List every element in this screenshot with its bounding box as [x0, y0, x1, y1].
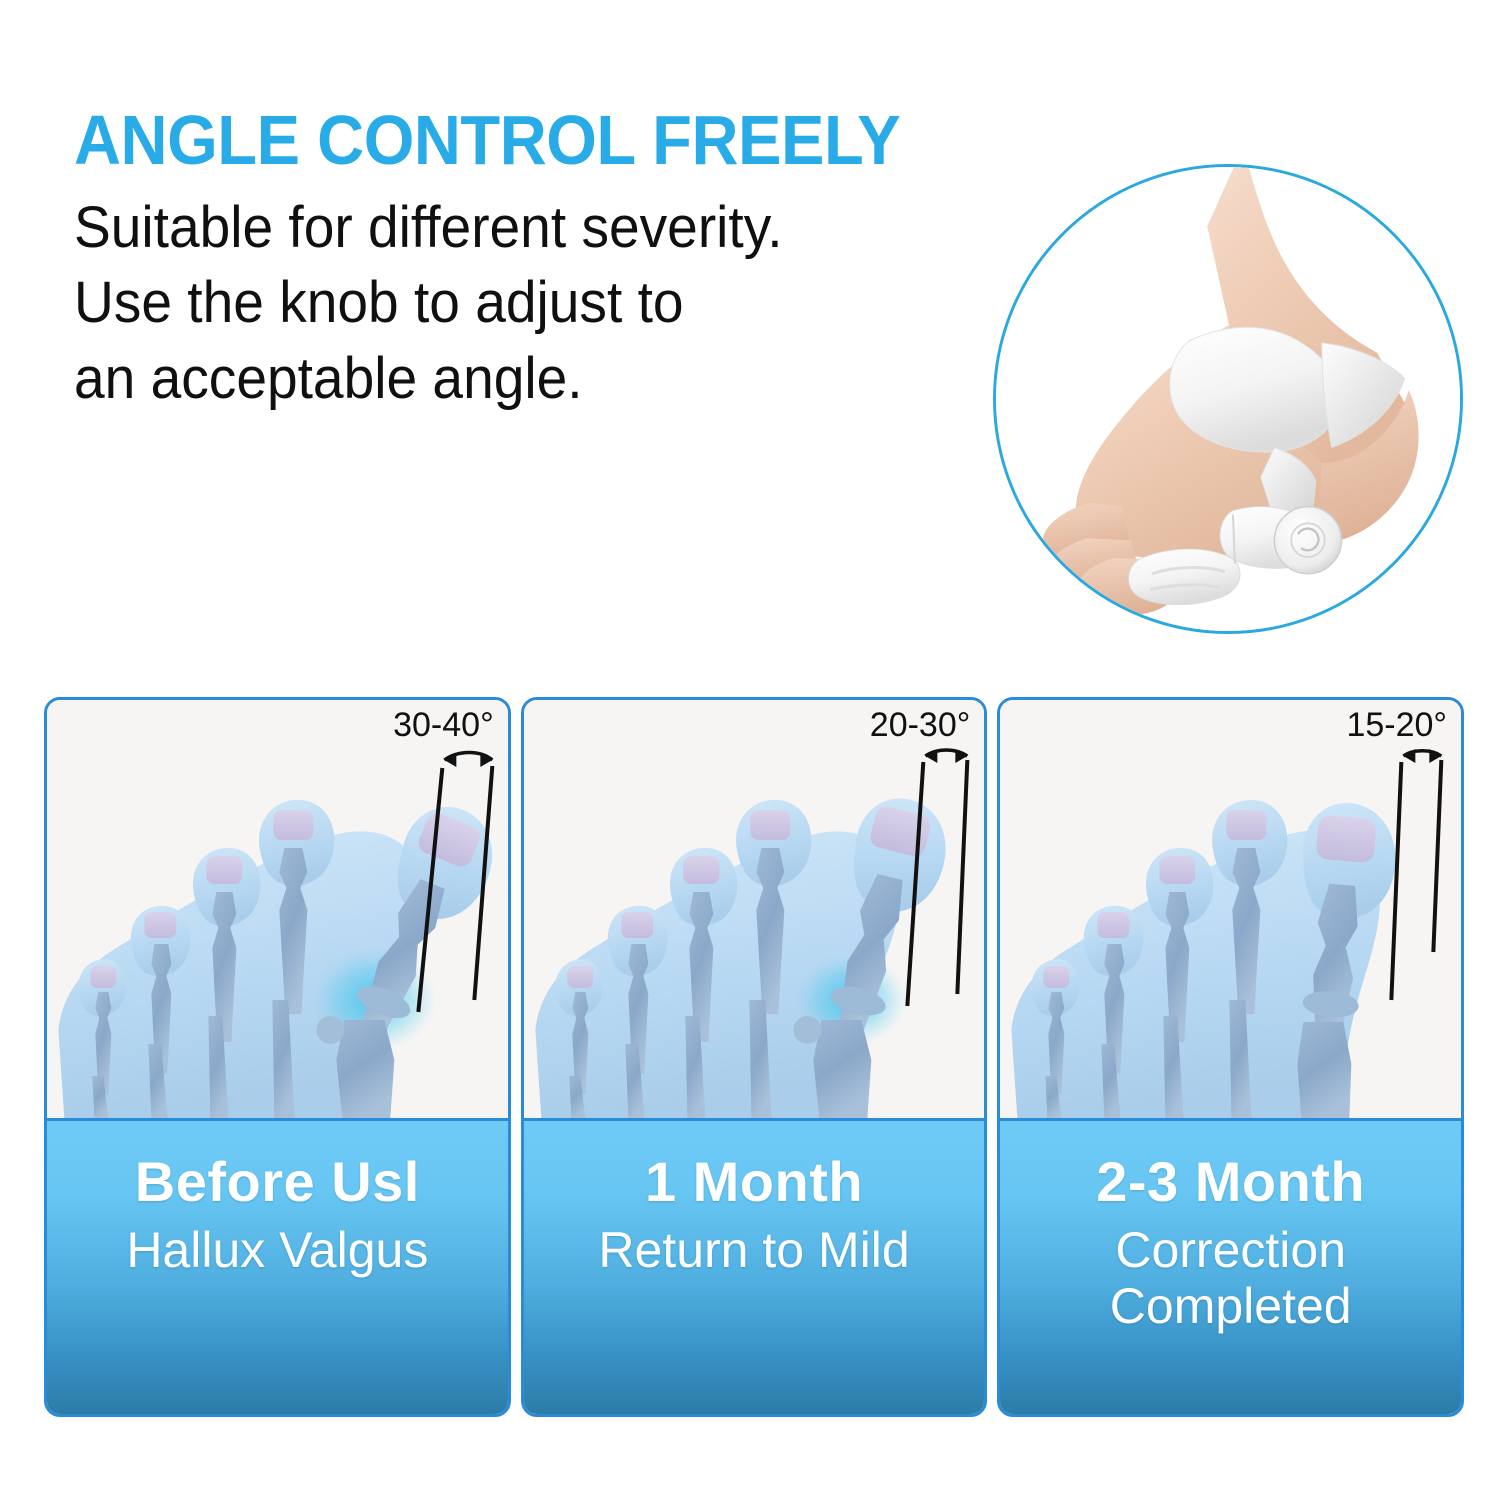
description-text: Suitable for different severity. Use the… [74, 190, 910, 416]
toe2-nail [273, 810, 313, 840]
toe4-nail [621, 912, 653, 938]
product-photo-circle [993, 164, 1463, 634]
caption-1-title: Before Usl [135, 1153, 420, 1212]
description-line-2: Use the knob to adjust to [74, 265, 910, 340]
panel-one-month: 20-30° 1 Month Return to Mild [521, 697, 988, 1417]
xray-image-1: 30-40° [47, 700, 508, 1121]
caption-3: 2-3 Month Correction Completed [1000, 1121, 1461, 1414]
xray-image-3: 15-20° [1000, 700, 1461, 1121]
panel-before-use: 30-40° Before Usl Hallux Valgus [44, 697, 511, 1417]
angle-label-3: 15-20° [1346, 706, 1447, 745]
caption-3-sub-line-2: Completed [1110, 1278, 1352, 1334]
metatarsal-1 [1298, 1022, 1352, 1118]
toe4-nail [144, 912, 176, 938]
sesamoid-bone [316, 1016, 344, 1044]
description-line-3: an acceptable angle. [74, 341, 910, 416]
xray-foot-corrected [1000, 700, 1461, 1118]
toe3-nail [206, 856, 242, 884]
toe2-nail [750, 810, 790, 840]
hallux-nail [1316, 815, 1378, 864]
caption-2-title: 1 Month [645, 1153, 863, 1212]
xray-image-2: 20-30° [524, 700, 985, 1121]
sesamoid-bone [793, 1016, 821, 1044]
caption-1: Before Usl Hallux Valgus [47, 1121, 508, 1414]
toe5-nail [90, 966, 116, 988]
toe5-nail [567, 966, 593, 988]
angle-label-2: 20-30° [870, 706, 971, 745]
xray-foot-severe-bunion [47, 700, 508, 1118]
toe3-nail [683, 856, 719, 884]
caption-2-subtitle: Return to Mild [598, 1222, 909, 1278]
caption-3-subtitle: Correction Completed [1110, 1222, 1352, 1334]
caption-1-subtitle: Hallux Valgus [126, 1222, 428, 1278]
toe3-nail [1160, 856, 1196, 884]
foot-brace-illustration [996, 167, 1460, 631]
metatarsal-1 [336, 1020, 394, 1118]
description-line-1: Suitable for different severity. [74, 190, 910, 265]
caption-2-sub-line-1: Return to Mild [598, 1222, 909, 1278]
metatarsal-1 [813, 1020, 871, 1118]
toe5-nail [1044, 966, 1070, 988]
caption-2: 1 Month Return to Mild [524, 1121, 985, 1414]
caption-3-title: 2-3 Month [1096, 1153, 1365, 1212]
panel-two-three-month: 15-20° 2-3 Month Correction Completed [997, 697, 1464, 1417]
caption-1-sub-line-1: Hallux Valgus [126, 1222, 428, 1278]
xray-foot-moderate-bunion [524, 700, 985, 1118]
toe2-nail [1227, 810, 1267, 840]
adjustment-knob[interactable] [1274, 507, 1341, 574]
brace-toe-splint [1129, 549, 1241, 605]
angle-label-1: 30-40° [393, 706, 494, 745]
caption-3-sub-line-1: Correction [1115, 1222, 1346, 1278]
progress-panels: 30-40° Before Usl Hallux Valgus [44, 697, 1464, 1417]
toe4-nail [1098, 912, 1130, 938]
page-title: ANGLE CONTROL FREELY [74, 105, 900, 175]
